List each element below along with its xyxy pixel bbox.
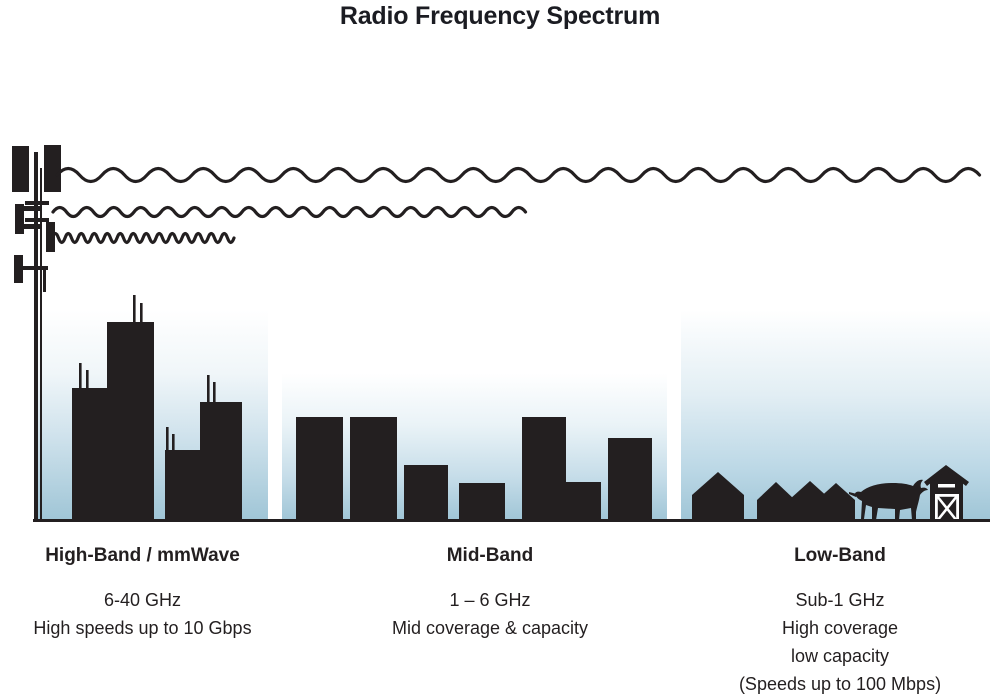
band-detail-mid-band-0: Mid coverage & capacity bbox=[340, 614, 640, 642]
band-description-high-band: 6-40 GHz High speeds up to 10 Gbps bbox=[0, 586, 285, 642]
band-name-mid-band: Mid-Band bbox=[340, 544, 640, 568]
band-name-low-band: Low-Band bbox=[680, 544, 1000, 568]
band-detail-low-band-1: low capacity bbox=[680, 642, 1000, 670]
band-labels: High-Band / mmWave 6-40 GHz High speeds … bbox=[0, 544, 1000, 700]
band-name-high-band: High-Band / mmWave bbox=[0, 544, 285, 568]
band-detail-low-band-2: (Speeds up to 100 Mbps) bbox=[680, 670, 1000, 698]
band-description-mid-band: 1 – 6 GHz Mid coverage & capacity bbox=[340, 586, 640, 642]
ground-line bbox=[33, 519, 990, 522]
band-column-high-band: High-Band / mmWave 6-40 GHz High speeds … bbox=[0, 544, 285, 642]
antenna-panel-low-left bbox=[14, 255, 23, 283]
band-column-mid-band: Mid-Band 1 – 6 GHz Mid coverage & capaci… bbox=[340, 544, 640, 642]
antenna-panel-top-right bbox=[44, 145, 61, 192]
band-detail-low-band-0: High coverage bbox=[680, 614, 1000, 642]
antenna-panel-top-left bbox=[12, 146, 29, 192]
band-description-low-band: Sub-1 GHz High coverage low capacity (Sp… bbox=[680, 586, 1000, 698]
wave-low-frequency bbox=[57, 169, 980, 182]
band-detail-high-band-0: High speeds up to 10 Gbps bbox=[0, 614, 285, 642]
wave-high-frequency bbox=[52, 234, 234, 243]
wave-mid-frequency bbox=[53, 208, 526, 217]
band-column-low-band: Low-Band Sub-1 GHz High coverage low cap… bbox=[680, 544, 1000, 698]
band-frequency-mid-band: 1 – 6 GHz bbox=[340, 586, 640, 614]
band-frequency-low-band: Sub-1 GHz bbox=[680, 586, 1000, 614]
band-frequency-high-band: 6-40 GHz bbox=[0, 586, 285, 614]
infographic-canvas: Radio Frequency Spectrum bbox=[0, 0, 1000, 700]
